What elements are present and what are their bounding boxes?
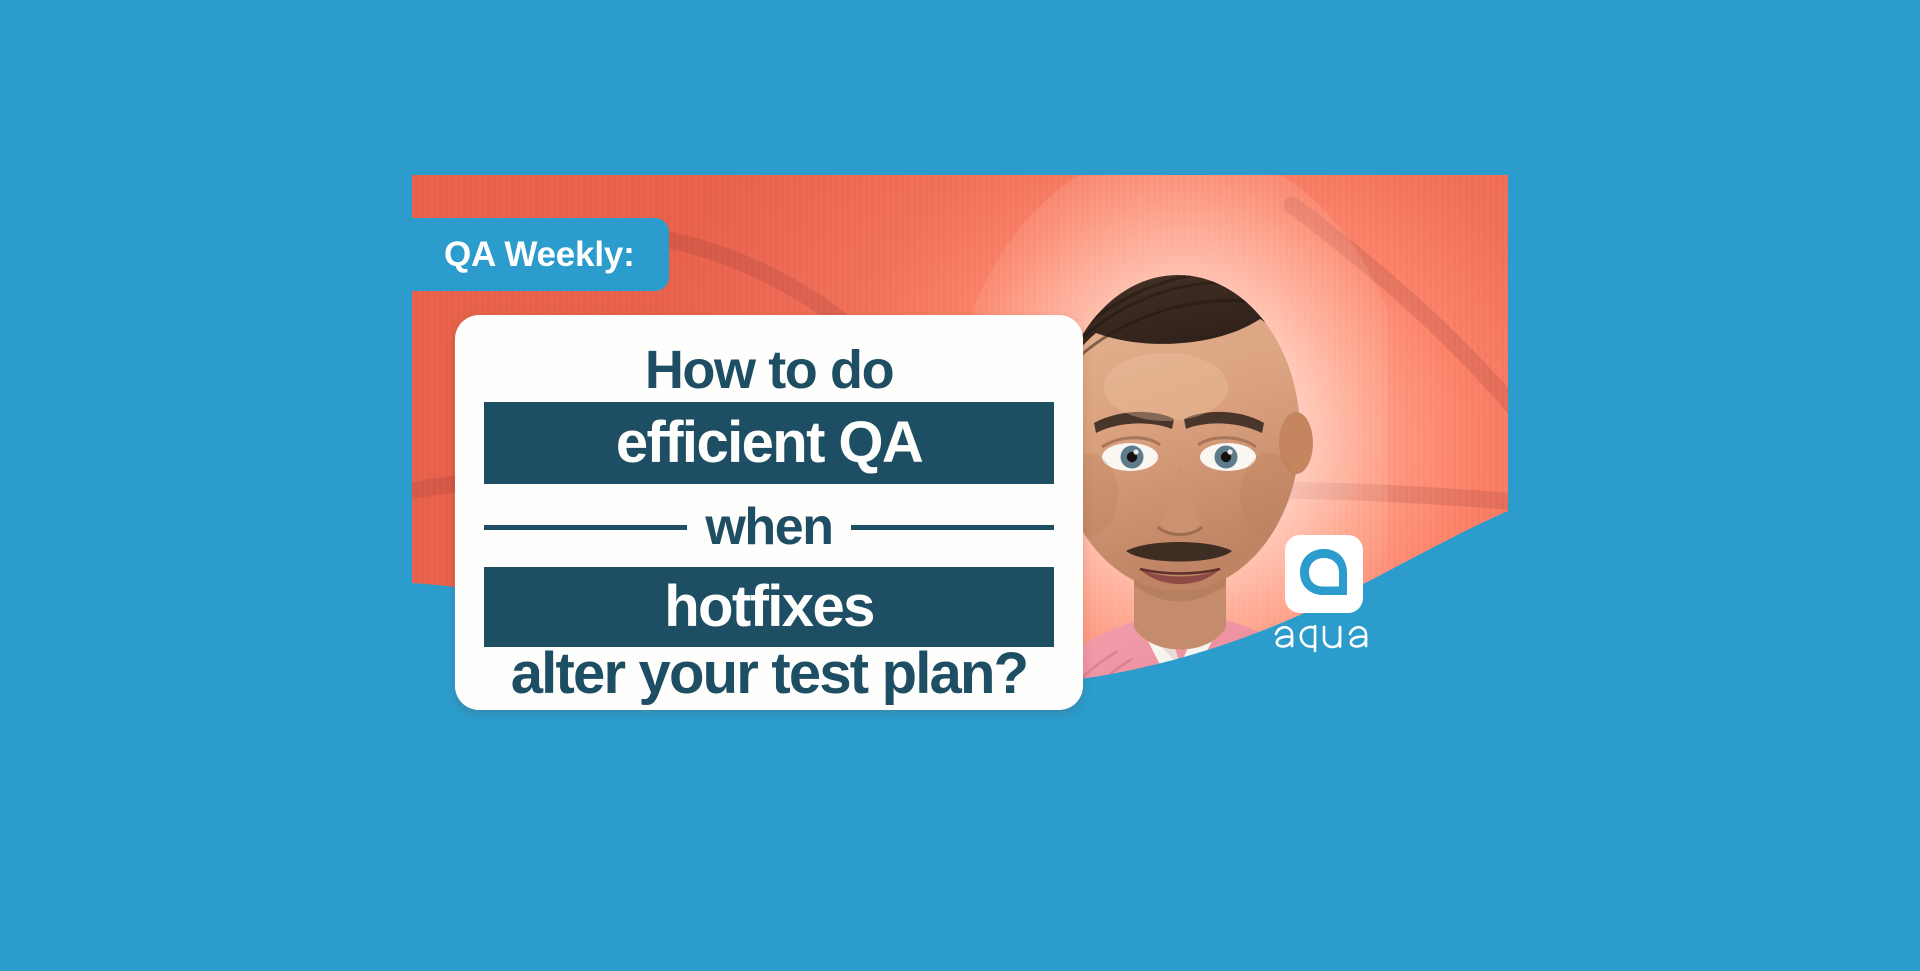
aqua-wordmark (1272, 618, 1376, 652)
title-card: How to do efficient QA when hotfixes alt… (455, 315, 1083, 710)
title-line-5: alter your test plan? (427, 645, 1111, 703)
qa-weekly-badge: QA Weekly: (412, 218, 669, 291)
title-line-3-row: when (484, 493, 1054, 561)
title-line-2-text: efficient QA (616, 414, 922, 472)
title-line-1: How to do (455, 337, 1083, 403)
title-rule-right (851, 525, 1054, 530)
aqua-logo-mark (1285, 535, 1363, 613)
title-line-4-text: hotfixes (664, 578, 874, 636)
title-line-2-highlight: efficient QA (484, 402, 1054, 484)
title-rule-left (484, 525, 687, 530)
title-line-3-text: when (705, 501, 832, 553)
qa-weekly-badge-label: QA Weekly: (444, 235, 635, 275)
video-thumbnail-card[interactable]: QA Weekly: How to do efficient QA when h… (412, 175, 1508, 795)
aqua-logo (1269, 535, 1379, 655)
title-line-4-highlight: hotfixes (484, 567, 1054, 647)
